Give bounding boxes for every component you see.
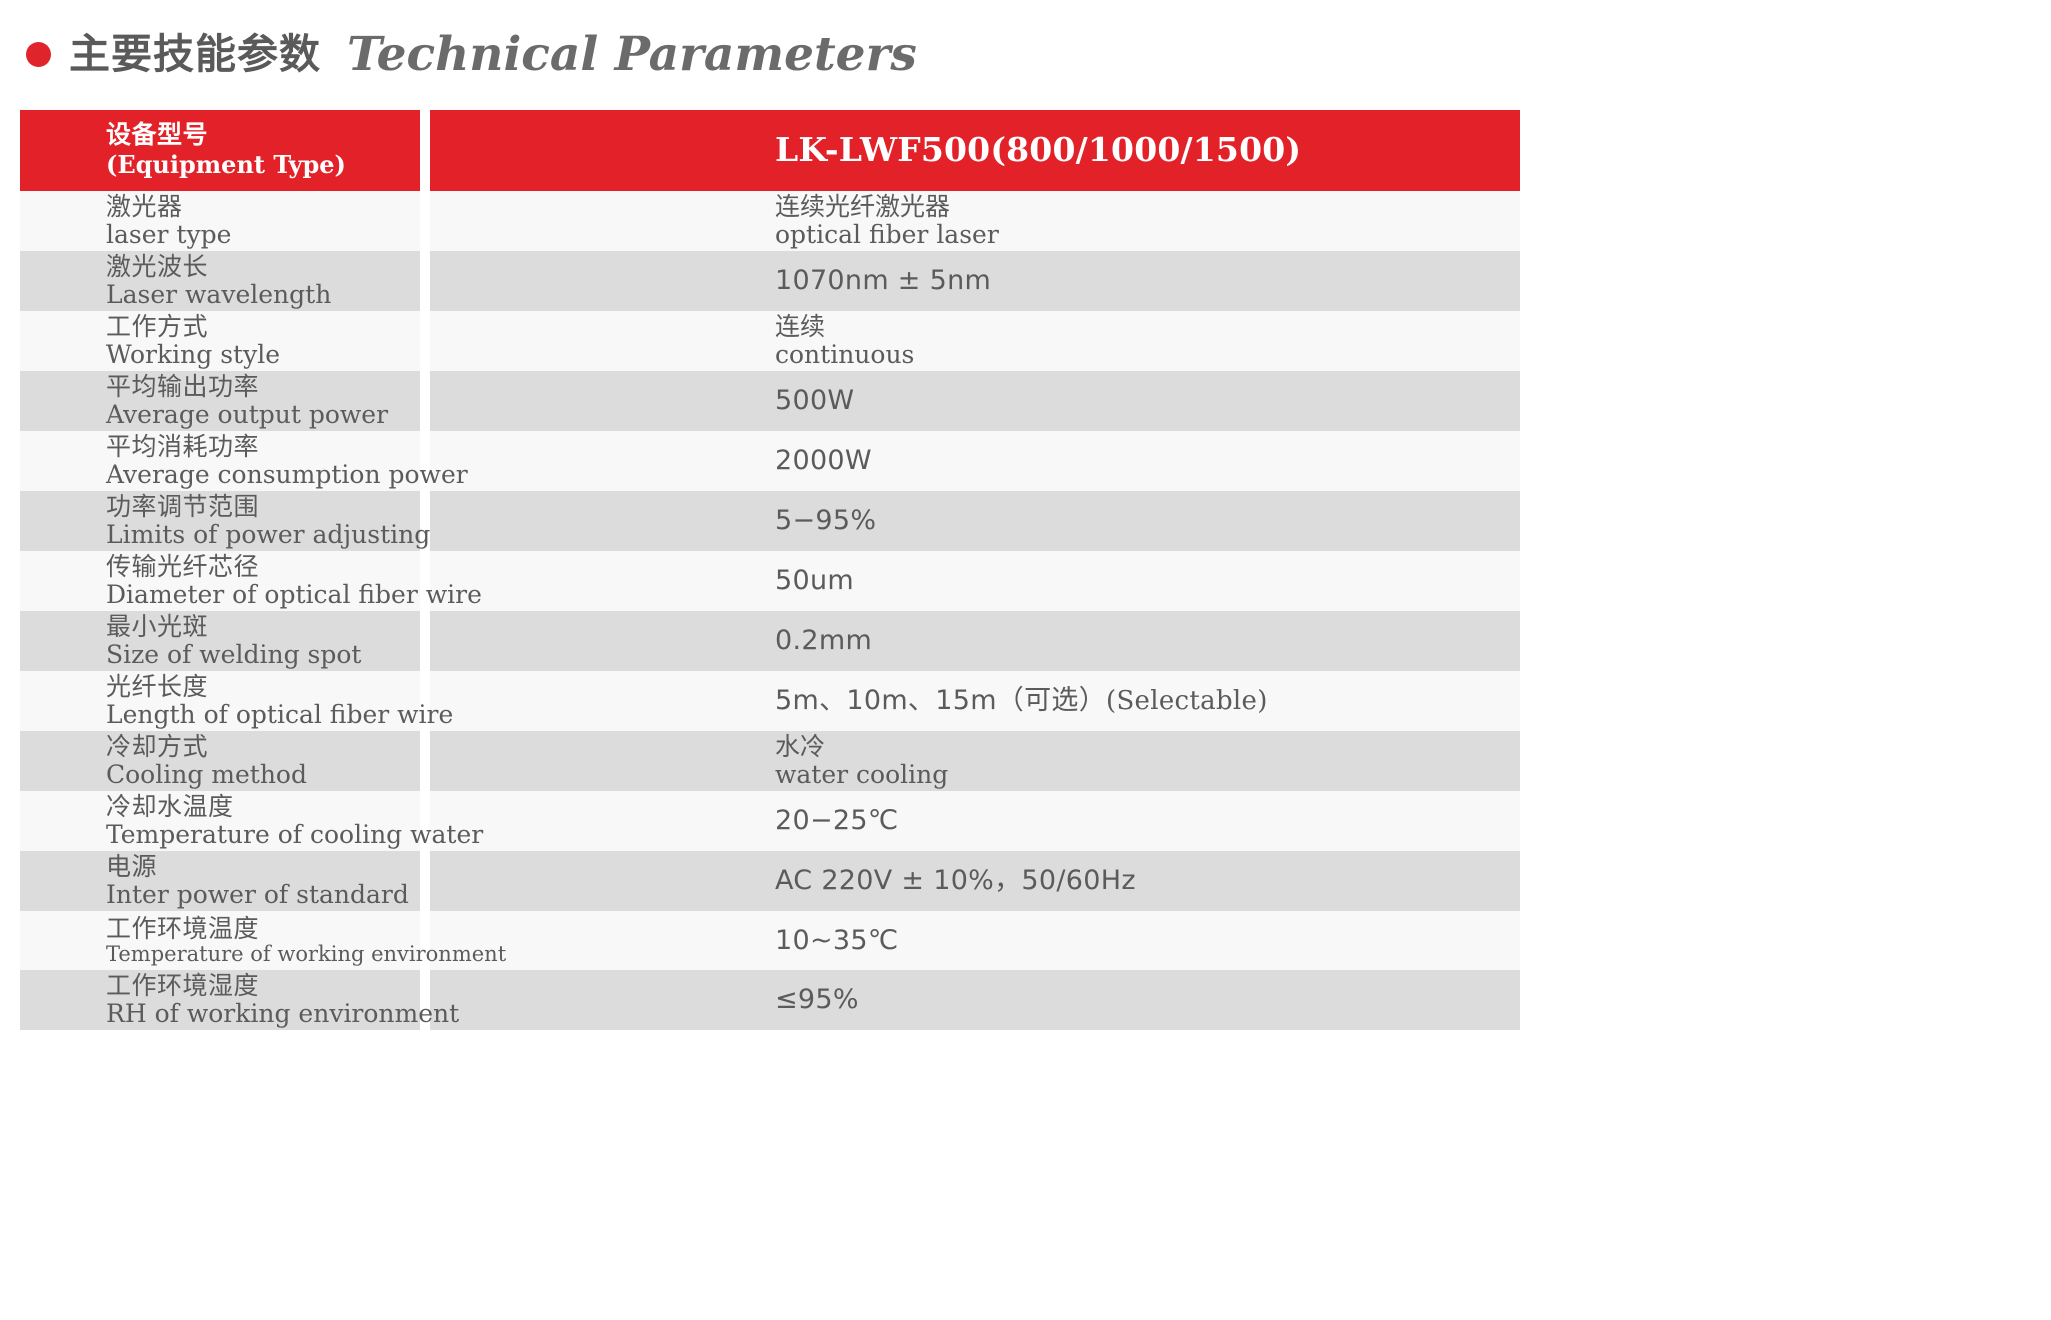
row-value-cell: 连续光纤激光器optical fiber laser [430,191,1520,251]
page-title: 主要技能参数 Technical Parameters [26,22,917,86]
row-label-cn: 传输光纤芯径 [106,553,420,581]
row-label-cell: 激光器laser type [20,191,420,251]
row-value: AC 220V ± 10%，50/60Hz [775,865,1520,897]
row-label-cn: 光纤长度 [106,673,420,701]
row-value-cell: 5−95% [430,491,1520,551]
column-gap [420,611,430,671]
row-value-cell: 1070nm ± 5nm [430,251,1520,311]
row-label-en: Working style [106,341,420,369]
row-label-cell: 功率调节范围Limits of power adjusting [20,491,420,551]
table-row: 平均消耗功率Average consumption power2000W [20,431,1520,491]
table-row: 传输光纤芯径Diameter of optical fiber wire50um [20,551,1520,611]
row-label-cell: 工作环境温度Temperature of working environment [20,911,420,970]
row-label-en: Cooling method [106,761,420,789]
row-label-en: RH of working environment [106,1000,420,1028]
row-value-cell: 5m、10m、15m（可选）(Selectable) [430,671,1520,731]
row-value-cn: 连续 [775,313,1520,341]
table-row: 工作环境湿度RH of working environment≤95% [20,970,1520,1030]
row-value: 2000W [775,445,1520,477]
row-label-en: Temperature of working environment [106,943,420,967]
row-label-en: Limits of power adjusting [106,521,420,549]
row-label-cell: 光纤长度Length of optical fiber wire [20,671,420,731]
column-gap [420,731,430,791]
technical-parameters-table: 设备型号 (Equipment Type) LK-LWF500(800/1000… [20,110,1520,1030]
row-label-cell: 最小光斑Size of welding spot [20,611,420,671]
row-label-en: Size of welding spot [106,641,420,669]
row-label-cn: 平均输出功率 [106,373,420,401]
row-value-en: water cooling [775,761,1520,789]
technical-parameters-page: 主要技能参数 Technical Parameters 设备型号 (Equipm… [0,0,2051,1320]
row-label-cell: 平均消耗功率Average consumption power [20,431,420,491]
table-row: 冷却方式Cooling method水冷water cooling [20,731,1520,791]
row-label-cell: 冷却水温度Temperature of cooling water [20,791,420,851]
column-gap [420,251,430,311]
row-value: 5m、10m、15m（可选）(Selectable) [775,685,1520,717]
row-value-cell: 水冷water cooling [430,731,1520,791]
table-row: 最小光斑Size of welding spot0.2mm [20,611,1520,671]
table-row: 冷却水温度Temperature of cooling water20−25℃ [20,791,1520,851]
row-value-cn: 连续光纤激光器 [775,193,1520,221]
page-title-en: Technical Parameters [347,31,917,78]
row-value: 500W [775,385,1520,417]
column-gap [420,371,430,431]
row-value: 0.2mm [775,625,1520,657]
row-label-en: Average output power [106,401,420,429]
row-value-cn: 水冷 [775,733,1520,761]
row-label-cell: 传输光纤芯径Diameter of optical fiber wire [20,551,420,611]
row-value: 5−95% [775,505,1520,537]
table-row: 光纤长度Length of optical fiber wire5m、10m、1… [20,671,1520,731]
table-row: 电源 Inter power of standardAC 220V ± 10%，… [20,851,1520,911]
row-value-cell: 0.2mm [430,611,1520,671]
header-label-cn: 设备型号 [106,120,420,150]
row-label-en: Laser wavelength [106,281,420,309]
row-value: 20−25℃ [775,805,1520,837]
row-label-cell: 冷却方式Cooling method [20,731,420,791]
table-row: 激光波长Laser wavelength1070nm ± 5nm [20,251,1520,311]
header-model-value: LK-LWF500(800/1000/1500) [430,120,1520,181]
row-value-cell: 10~35℃ [430,911,1520,970]
row-label-cn: 冷却方式 [106,733,420,761]
row-label-cn: 最小光斑 [106,613,420,641]
header-label-en: (Equipment Type) [106,151,420,180]
row-label-cn: 工作方式 [106,313,420,341]
row-value-cell: 20−25℃ [430,791,1520,851]
row-value-en: continuous [775,341,1520,369]
column-gap [420,851,430,911]
row-label-cn: 激光波长 [106,253,420,281]
row-label-en: Temperature of cooling water [106,821,420,849]
row-value-cell: 连续continuous [430,311,1520,371]
row-value: ≤95% [775,984,1520,1016]
column-gap [420,110,430,191]
row-label-cn: 工作环境湿度 [106,972,420,1000]
row-value-cell: 500W [430,371,1520,431]
row-label-en: Length of optical fiber wire [106,701,420,729]
row-label-cell: 平均输出功率Average output power [20,371,420,431]
table-row: 工作环境温度Temperature of working environment… [20,911,1520,970]
row-value-en: optical fiber laser [775,221,1520,249]
column-gap [420,191,430,251]
row-label-en: Inter power of standard [106,881,420,909]
row-label-en: Average consumption power [106,461,420,489]
row-value-cell: AC 220V ± 10%，50/60Hz [430,851,1520,911]
column-gap [420,311,430,371]
bullet-icon [26,42,51,67]
row-label-cn: 工作环境温度 [106,915,420,943]
table-header-row: 设备型号 (Equipment Type) LK-LWF500(800/1000… [20,110,1520,191]
row-value-cell: 50um [430,551,1520,611]
header-label-cell: 设备型号 (Equipment Type) [20,110,420,191]
table-row: 激光器laser type连续光纤激光器optical fiber laser [20,191,1520,251]
row-value: 10~35℃ [775,925,1520,957]
row-label-cell: 工作方式Working style [20,311,420,371]
selectable-note: (Selectable) [1106,686,1268,716]
row-label-cell: 电源 Inter power of standard [20,851,420,911]
row-label-en: Diameter of optical fiber wire [106,581,420,609]
table-row: 工作方式Working style连续continuous [20,311,1520,371]
table-row: 功率调节范围Limits of power adjusting5−95% [20,491,1520,551]
row-label-en: laser type [106,221,420,249]
page-title-cn: 主要技能参数 [69,34,321,75]
row-label-cn: 平均消耗功率 [106,433,420,461]
row-label-cn: 冷却水温度 [106,793,420,821]
row-label-cn: 电源 [106,853,420,881]
table-row: 平均输出功率Average output power500W [20,371,1520,431]
row-label-cell: 工作环境湿度RH of working environment [20,970,420,1030]
row-label-cn: 激光器 [106,193,420,221]
header-model-cell: LK-LWF500(800/1000/1500) [430,110,1520,191]
row-label-cell: 激光波长Laser wavelength [20,251,420,311]
row-value: 1070nm ± 5nm [775,265,1520,297]
row-value: 50um [775,565,1520,597]
row-value-cell: 2000W [430,431,1520,491]
row-label-cn: 功率调节范围 [106,493,420,521]
row-value-cell: ≤95% [430,970,1520,1030]
